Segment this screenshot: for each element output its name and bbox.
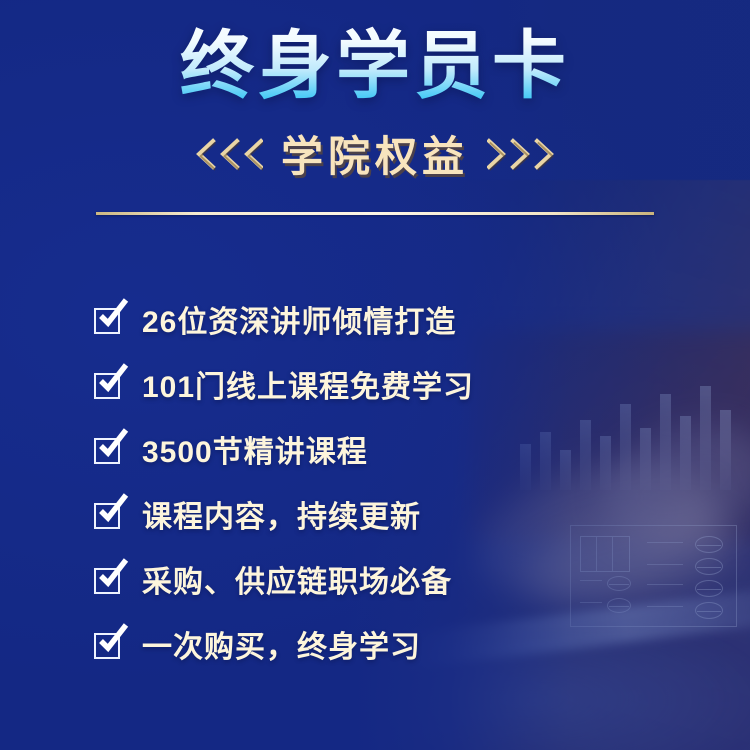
list-item: 3500节精讲课程 (94, 416, 654, 481)
list-item-label: 采购、供应链职场必备 (142, 557, 452, 601)
list-item-label: 101门线上课程免费学习 (142, 362, 474, 406)
checkbox-checked-icon (94, 369, 124, 399)
list-item-label: 课程内容，持续更新 (142, 492, 421, 536)
checkbox-checked-icon (94, 564, 124, 594)
list-item: 采购、供应链职场必备 (94, 546, 654, 611)
list-item-label: 3500节精讲课程 (142, 427, 368, 471)
poster-header: 终身学员卡 学院权益 (0, 0, 750, 184)
list-item: 101门线上课程免费学习 (94, 351, 654, 416)
list-item-label: 一次购买，终身学习 (142, 622, 421, 666)
checkbox-checked-icon (94, 434, 124, 464)
list-item: 一次购买，终身学习 (94, 611, 654, 676)
lifetime-member-card-poster: 终身学员卡 学院权益 (0, 0, 750, 750)
gold-divider (96, 212, 654, 215)
benefits-list: 26位资深讲师倾情打造 101门线上课程免费学习 3500节精讲课程 (94, 286, 654, 676)
checkbox-checked-icon (94, 629, 124, 659)
checkbox-checked-icon (94, 499, 124, 529)
list-item: 课程内容，持续更新 (94, 481, 654, 546)
page-title: 终身学员卡 (0, 0, 750, 103)
chevron-left-triple-icon (191, 134, 263, 174)
subtitle-row: 学院权益 (0, 123, 750, 184)
list-item-label: 26位资深讲师倾情打造 (142, 297, 456, 341)
chevron-right-triple-icon (487, 134, 559, 174)
checkbox-checked-icon (94, 304, 124, 334)
subtitle-text: 学院权益 (281, 123, 469, 184)
list-item: 26位资深讲师倾情打造 (94, 286, 654, 351)
